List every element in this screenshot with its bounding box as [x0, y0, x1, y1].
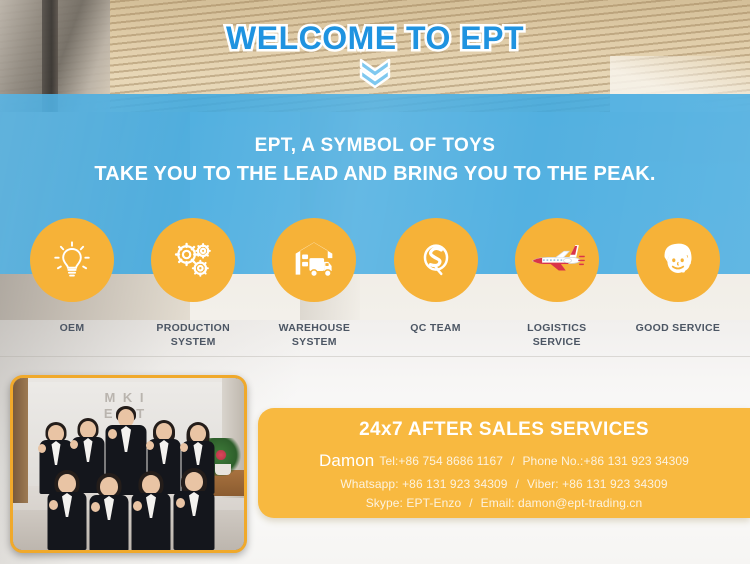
feature-icon-circle — [394, 218, 478, 302]
contact-row-tel: DamonTel:+86 754 8686 1167/Phone No.:+86… — [258, 447, 750, 475]
gears-icon — [169, 238, 217, 282]
contact-name: Damon — [319, 451, 374, 470]
background-floor-seam — [0, 356, 750, 357]
photo-person-front-4 — [173, 468, 215, 550]
feature-label: OEM — [60, 321, 85, 335]
contact-separator: / — [508, 477, 527, 491]
feature-label: WAREHOUSE SYSTEM — [279, 321, 351, 349]
feature-icon-circle — [272, 218, 356, 302]
photo-person-front-2 — [89, 473, 129, 550]
feature-label: GOOD SERVICE — [636, 321, 721, 335]
feature-icon-circle — [30, 218, 114, 302]
team-photo-frame: M K I E P T — [10, 375, 247, 553]
contact-row-online: Skype: EPT-Enzo/Email: damon@ept-trading… — [258, 494, 750, 513]
contact-viber[interactable]: Viber: +86 131 923 34309 — [527, 477, 668, 491]
after-sales-contact-panel: 24x7 AFTER SALES SERVICES DamonTel:+86 7… — [258, 408, 750, 518]
hero-line-2: TAKE YOU TO THE LEAD AND BRING YOU TO TH… — [0, 160, 750, 188]
feature-icon-circle — [636, 218, 720, 302]
photo-flowers — [215, 450, 227, 460]
qs-monogram-icon — [413, 237, 459, 283]
hero-line-1: EPT, A SYMBOL OF TOYS — [0, 133, 750, 160]
contact-separator: / — [503, 454, 522, 468]
lightbulb-icon — [49, 237, 95, 283]
feature-label: LOGISTICS SERVICE — [527, 321, 586, 349]
contact-email[interactable]: Email: damon@ept-trading.cn — [481, 496, 643, 510]
feature-item-oem[interactable]: OEM — [18, 218, 126, 349]
photo-person-front-1 — [47, 470, 87, 550]
feature-icon-circle — [151, 218, 235, 302]
feature-item-warehouse-system[interactable]: WAREHOUSE SYSTEM — [260, 218, 368, 349]
feature-label: QC TEAM — [410, 321, 461, 335]
photo-person-front-3 — [131, 471, 171, 550]
airplane-icon — [529, 243, 585, 277]
photo-door — [13, 378, 28, 503]
feature-icon-circle — [515, 218, 599, 302]
feature-item-logistics-service[interactable]: LOGISTICS SERVICE — [503, 218, 611, 349]
hero-headline: EPT, A SYMBOL OF TOYS TAKE YOU TO THE LE… — [0, 133, 750, 188]
contact-whatsapp[interactable]: Whatsapp: +86 131 923 34309 — [340, 477, 507, 491]
contact-panel-title: 24x7 AFTER SALES SERVICES — [258, 419, 750, 441]
team-photo: M K I E P T — [13, 378, 244, 550]
feature-item-production-system[interactable]: PRODUCTION SYSTEM — [139, 218, 247, 349]
ept-company-banner: WELCOME TO EPT EPT, A SYMBOL OF TOYS TAK… — [0, 0, 750, 564]
page-title: WELCOME TO EPT — [0, 20, 750, 57]
contact-row-messaging: Whatsapp: +86 131 923 34309/Viber: +86 1… — [258, 475, 750, 494]
contact-phone[interactable]: Phone No.:+86 131 923 34309 — [522, 454, 689, 468]
feature-list: OEM — [0, 218, 750, 349]
feature-label: PRODUCTION SYSTEM — [156, 321, 230, 349]
warehouse-truck-icon — [290, 238, 338, 282]
feature-item-qc-team[interactable]: QC TEAM — [382, 218, 490, 349]
feature-item-good-service[interactable]: GOOD SERVICE — [624, 218, 732, 349]
contact-separator: / — [461, 496, 480, 510]
customer-service-agent-icon — [655, 237, 701, 283]
contact-skype[interactable]: Skype: EPT-Enzo — [366, 496, 462, 510]
contact-details: DamonTel:+86 754 8686 1167/Phone No.:+86… — [258, 447, 750, 513]
contact-tel[interactable]: Tel:+86 754 8686 1167 — [379, 454, 503, 468]
double-chevron-down-icon — [0, 58, 750, 88]
